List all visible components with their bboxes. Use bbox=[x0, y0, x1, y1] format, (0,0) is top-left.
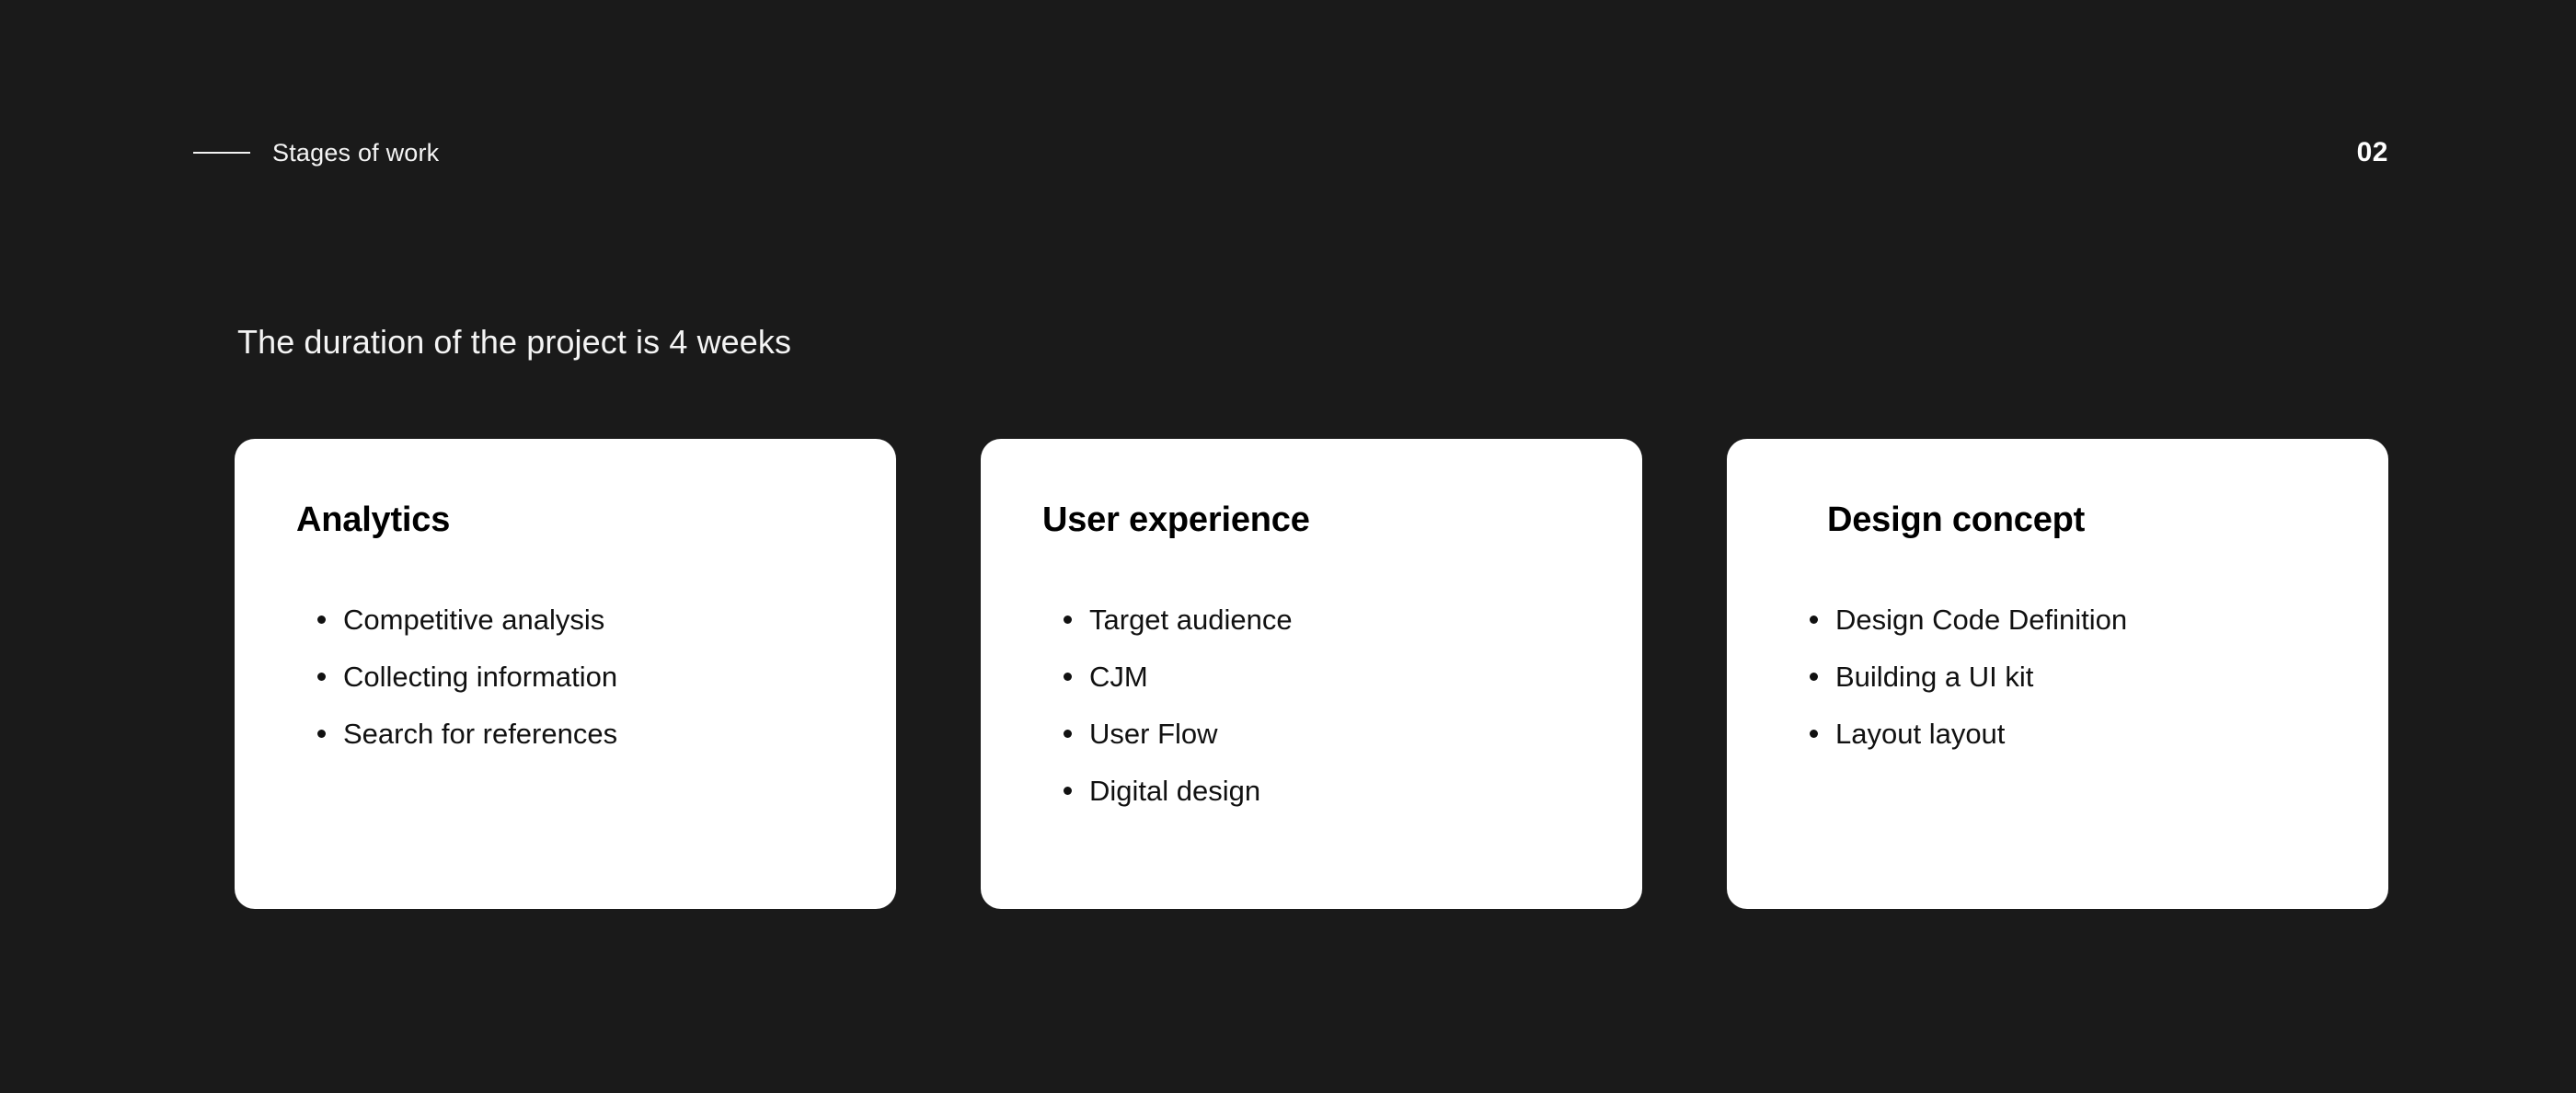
bullet-dot-icon bbox=[1064, 673, 1072, 681]
list-item: Competitive analysis bbox=[317, 605, 859, 634]
list-item-label: Collecting information bbox=[343, 661, 617, 693]
list-item-label: Competitive analysis bbox=[343, 604, 604, 636]
list-item: Collecting information bbox=[317, 662, 859, 691]
stage-card-title: User experience bbox=[1042, 501, 1594, 540]
list-item: Design Code Definition bbox=[1810, 605, 2352, 634]
list-item: Building a UI kit bbox=[1810, 662, 2352, 691]
header-left-group: Stages of work bbox=[193, 141, 439, 166]
list-item-label: User Flow bbox=[1089, 718, 1218, 750]
bullet-dot-icon bbox=[1064, 730, 1072, 738]
stage-card-bullet-list: Competitive analysis Collecting informat… bbox=[317, 605, 859, 748]
stage-card-analytics: Analytics Competitive analysis Collectin… bbox=[235, 439, 896, 909]
bullet-dot-icon bbox=[1810, 673, 1818, 681]
list-item: Layout layout bbox=[1810, 719, 2352, 748]
list-item-label: Digital design bbox=[1089, 775, 1260, 807]
stage-card-design-concept: Design concept Design Code Definition Bu… bbox=[1727, 439, 2388, 909]
stage-card-group: Analytics Competitive analysis Collectin… bbox=[235, 439, 2388, 909]
page-number: 02 bbox=[2357, 139, 2388, 167]
bullet-dot-icon bbox=[317, 616, 326, 624]
list-item-label: Building a UI kit bbox=[1835, 661, 2033, 693]
bullet-dot-icon bbox=[1064, 787, 1072, 795]
slide-header: Stages of work 02 bbox=[193, 129, 2388, 177]
slide-subtitle: The duration of the project is 4 weeks bbox=[237, 321, 791, 362]
list-item-label: Search for references bbox=[343, 718, 617, 750]
section-eyebrow-label: Stages of work bbox=[272, 141, 439, 166]
bullet-dot-icon bbox=[317, 673, 326, 681]
list-item: CJM bbox=[1064, 662, 1605, 691]
stage-card-title: Design concept bbox=[1788, 501, 2340, 540]
stage-card-bullet-list: Target audience CJM User Flow Digital de… bbox=[1064, 605, 1605, 805]
bullet-dot-icon bbox=[1810, 730, 1818, 738]
bullet-dot-icon bbox=[1064, 616, 1072, 624]
bullet-dot-icon bbox=[317, 730, 326, 738]
stage-card-bullet-list: Design Code Definition Building a UI kit… bbox=[1810, 605, 2352, 748]
list-item-label: Target audience bbox=[1089, 604, 1293, 636]
stage-card-user-experience: User experience Target audience CJM User… bbox=[981, 439, 1642, 909]
list-item-label: Layout layout bbox=[1835, 718, 2005, 750]
list-item: Digital design bbox=[1064, 777, 1605, 805]
list-item-label: CJM bbox=[1089, 661, 1148, 693]
list-item: Search for references bbox=[317, 719, 859, 748]
list-item: Target audience bbox=[1064, 605, 1605, 634]
horizontal-rule-icon bbox=[193, 152, 250, 154]
stage-card-title: Analytics bbox=[296, 501, 848, 540]
slide-canvas: Stages of work 02 The duration of the pr… bbox=[0, 0, 2576, 1093]
list-item: User Flow bbox=[1064, 719, 1605, 748]
list-item-label: Design Code Definition bbox=[1835, 604, 2127, 636]
bullet-dot-icon bbox=[1810, 616, 1818, 624]
